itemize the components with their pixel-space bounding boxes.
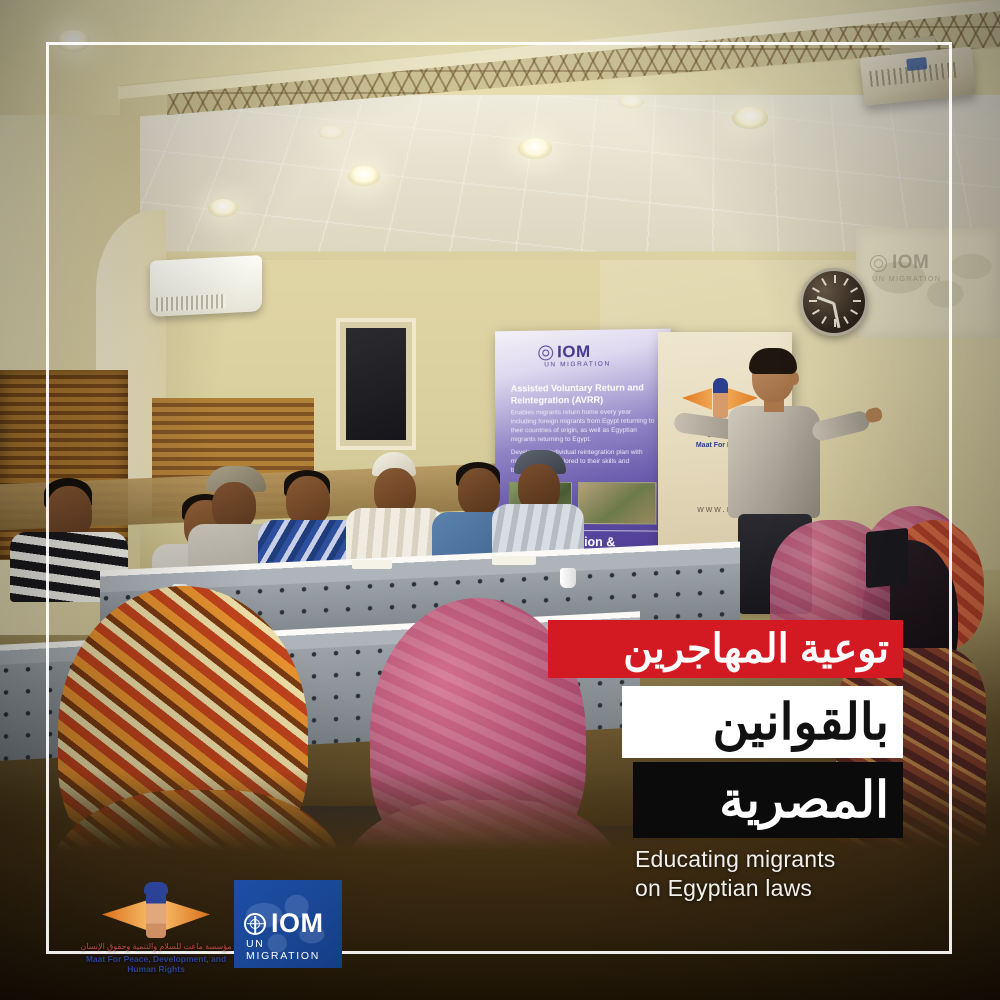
- iom-logo: IOM UN MIGRATION: [234, 880, 342, 968]
- banner-iom-logo: IOM: [538, 342, 590, 363]
- clock-tick: [812, 287, 820, 293]
- headline-line-1: توعية المهاجرين: [623, 629, 889, 669]
- subtitle-line-1: Educating migrants: [635, 845, 955, 874]
- clock-tick: [821, 278, 827, 286]
- ceiling-light: [518, 138, 552, 159]
- screen-iom-text: IOM: [892, 252, 929, 274]
- subtitle-english: Educating migrants on Egyptian laws: [635, 845, 955, 904]
- maat-logo: مؤسسة ماعت للسلام والتنمية وحقوق الإنسان…: [72, 884, 240, 976]
- maat-logo-arabic: مؤسسة ماعت للسلام والتنمية وحقوق الإنسان: [72, 942, 240, 951]
- headline-band-white: بالقوانين: [622, 686, 903, 758]
- ceiling-light: [208, 199, 238, 217]
- wall-projection-screen: IOM UN MIGRATION: [856, 228, 1000, 338]
- headline-line-2: بالقوانين: [713, 697, 889, 747]
- ceiling-light: [732, 107, 768, 129]
- iom-logo-name: IOM: [271, 910, 324, 937]
- paper-sheet: [352, 560, 392, 569]
- headline-band-red: توعية المهاجرين: [548, 620, 903, 678]
- ceiling-light: [56, 30, 90, 52]
- paper-cup: [560, 568, 576, 588]
- banner-iom-name: IOM: [557, 342, 590, 362]
- headline-band-black: المصرية: [633, 762, 903, 838]
- wall-clock: [800, 268, 868, 336]
- clock-tick: [843, 316, 849, 324]
- ceiling-light: [318, 126, 344, 139]
- wing-icon: [166, 900, 210, 930]
- banner-iom-heading: Assisted Voluntary Return and Reintegrat…: [511, 381, 657, 407]
- screen-iom-logo: IOM: [870, 252, 929, 274]
- laptop: [866, 528, 908, 588]
- wing-icon: [102, 900, 146, 930]
- subtitle-line-2: on Egyptian laws: [635, 874, 955, 903]
- globe-icon: [538, 345, 553, 360]
- ceiling-light: [618, 95, 644, 108]
- iom-logo-subtitle: UN MIGRATION: [246, 938, 342, 962]
- ceiling-light: [348, 166, 380, 186]
- clock-tick: [812, 309, 820, 315]
- screen-iom-subtitle: UN MIGRATION: [872, 274, 941, 283]
- head: [286, 476, 330, 526]
- clock-tick: [834, 275, 836, 283]
- maat-winged-emblem-icon: [102, 884, 210, 946]
- iom-logo-row: IOM: [244, 910, 324, 937]
- headline-line-3: المصرية: [719, 775, 889, 825]
- banner-iom-sub: UN MIGRATION: [544, 361, 611, 369]
- air-conditioner: [150, 255, 262, 317]
- head: [212, 482, 256, 530]
- paper-sheet: [492, 556, 536, 565]
- clock-tick: [821, 316, 827, 324]
- crown-icon: [144, 882, 168, 894]
- window: [336, 318, 416, 450]
- clock-tick: [853, 300, 861, 302]
- speaker-torso: [728, 406, 820, 518]
- window-glass: [346, 328, 406, 440]
- clock-tick: [843, 278, 849, 286]
- wing-icon: [682, 388, 712, 410]
- globe-icon: [870, 255, 887, 272]
- un-globe-icon: [244, 913, 266, 935]
- speaker-hair: [749, 348, 797, 374]
- banner-photo-thumb: [578, 482, 656, 525]
- poster-root: IOM UN MIGRATION IOM: [0, 0, 1000, 1000]
- banner-iom-paragraph-1: Enables migrants return home every year …: [511, 408, 657, 445]
- maat-logo-english: Maat For Peace, Development, and Human R…: [72, 954, 240, 974]
- world-map-graphic: [856, 228, 1000, 338]
- clock-tick: [850, 309, 858, 315]
- clock-tick: [809, 300, 817, 302]
- clock-tick: [850, 287, 858, 293]
